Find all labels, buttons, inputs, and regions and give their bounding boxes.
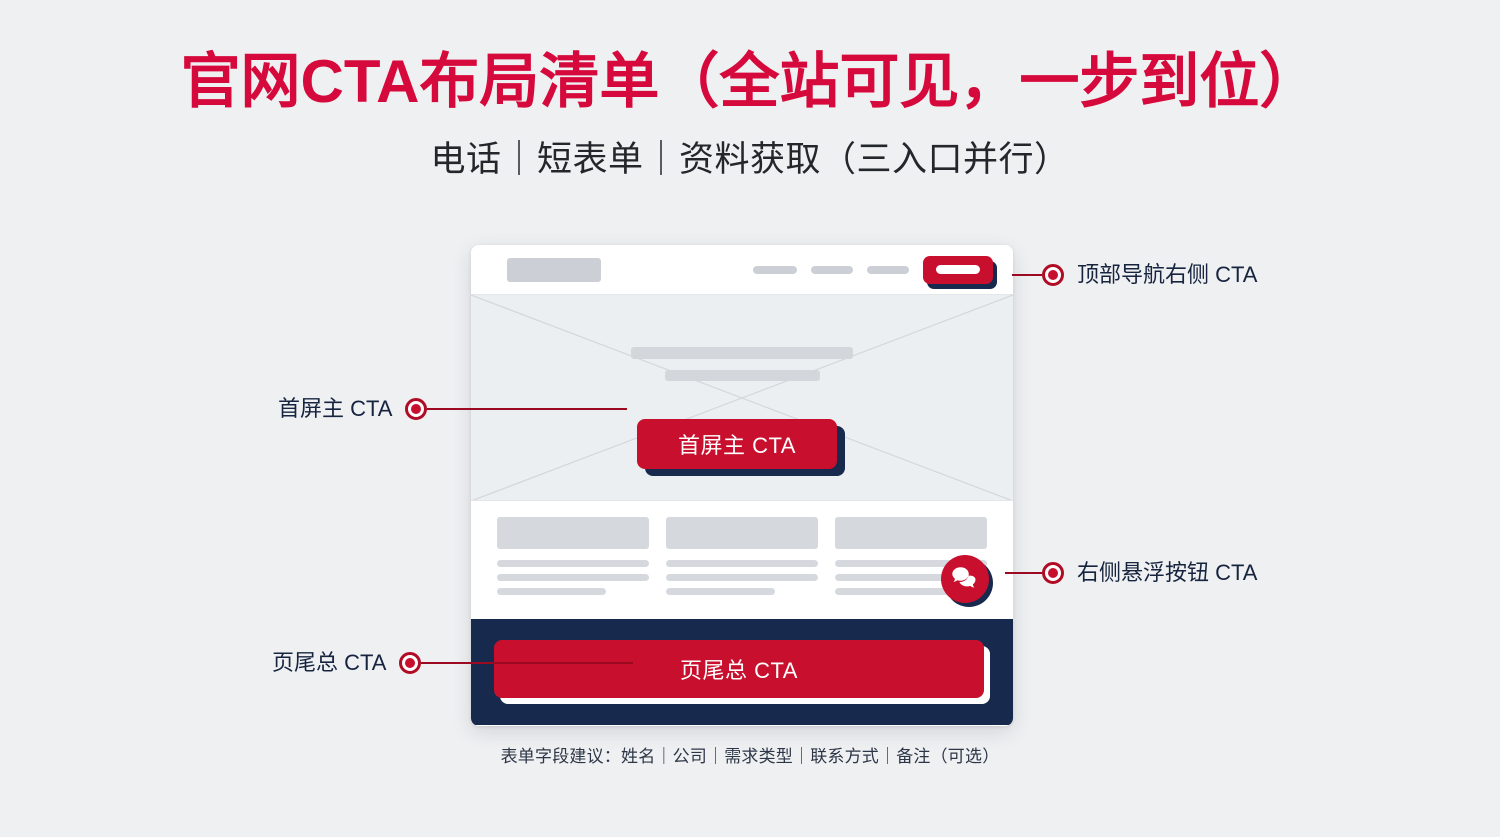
card-text-line xyxy=(666,574,818,581)
card-text-line xyxy=(497,560,649,567)
nav-links-group xyxy=(753,266,909,274)
card-text-line xyxy=(497,588,606,595)
hero-headline-placeholder xyxy=(631,347,853,359)
hero-subhead-placeholder xyxy=(665,370,820,381)
callout-leader-line xyxy=(1005,572,1042,574)
callout-label-hero: 首屏主 CTA xyxy=(278,398,392,420)
content-card xyxy=(497,517,649,619)
callout-marker-dot xyxy=(405,398,427,420)
page-title: 官网CTA布局清单（全站可见，一步到位） xyxy=(0,48,1500,115)
callout-floating-cta: 右侧悬浮按钮 CTA xyxy=(1005,562,1257,584)
card-heading-placeholder xyxy=(666,517,818,549)
navbar-cta-button[interactable] xyxy=(923,256,993,284)
page-subtitle: 电话｜短表单｜资料获取（三入口并行） xyxy=(0,131,1500,182)
card-heading-placeholder xyxy=(835,517,987,549)
nav-link-placeholder-1[interactable] xyxy=(753,266,797,274)
floating-chat-cta-button[interactable] xyxy=(941,555,995,609)
hero-cta-button[interactable]: 首屏主 CTA xyxy=(637,419,847,471)
card-text-line xyxy=(666,588,775,595)
callout-label-floating: 右侧悬浮按钮 CTA xyxy=(1077,562,1257,584)
callout-navbar-cta: 顶部导航右侧 CTA xyxy=(1012,264,1257,286)
mockup-navbar xyxy=(471,245,1013,295)
card-text-line xyxy=(666,560,818,567)
mockup-content-section xyxy=(471,501,1013,619)
callout-label-navbar: 顶部导航右侧 CTA xyxy=(1077,264,1257,286)
nav-link-placeholder-2[interactable] xyxy=(811,266,853,274)
hero-cta-label[interactable]: 首屏主 CTA xyxy=(637,419,837,469)
content-card xyxy=(666,517,818,619)
hero-text-placeholders xyxy=(471,347,1013,381)
callout-leader-line xyxy=(421,662,633,664)
card-heading-placeholder xyxy=(497,517,649,549)
callout-marker-dot xyxy=(399,652,421,674)
callout-label-footer: 页尾总 CTA xyxy=(272,652,386,674)
callout-footer-cta: 页尾总 CTA xyxy=(272,652,633,674)
logo-placeholder xyxy=(507,258,601,282)
callout-leader-line xyxy=(1012,274,1042,276)
card-text-line xyxy=(497,574,649,581)
nav-link-placeholder-3[interactable] xyxy=(867,266,909,274)
callout-hero-cta: 首屏主 CTA xyxy=(278,398,627,420)
navbar-cta-label-placeholder xyxy=(936,265,980,274)
callout-leader-line xyxy=(427,408,627,410)
floating-button-surface[interactable] xyxy=(941,555,989,603)
callout-marker-dot xyxy=(1042,562,1064,584)
chat-bubble-icon xyxy=(951,566,979,592)
callout-marker-dot xyxy=(1042,264,1064,286)
navbar-cta-surface[interactable] xyxy=(923,256,993,284)
page-header: 官网CTA布局清单（全站可见，一步到位） 电话｜短表单｜资料获取（三入口并行） xyxy=(0,0,1500,182)
form-fields-caption: 表单字段建议：姓名｜公司｜需求类型｜联系方式｜备注（可选） xyxy=(0,742,1500,767)
